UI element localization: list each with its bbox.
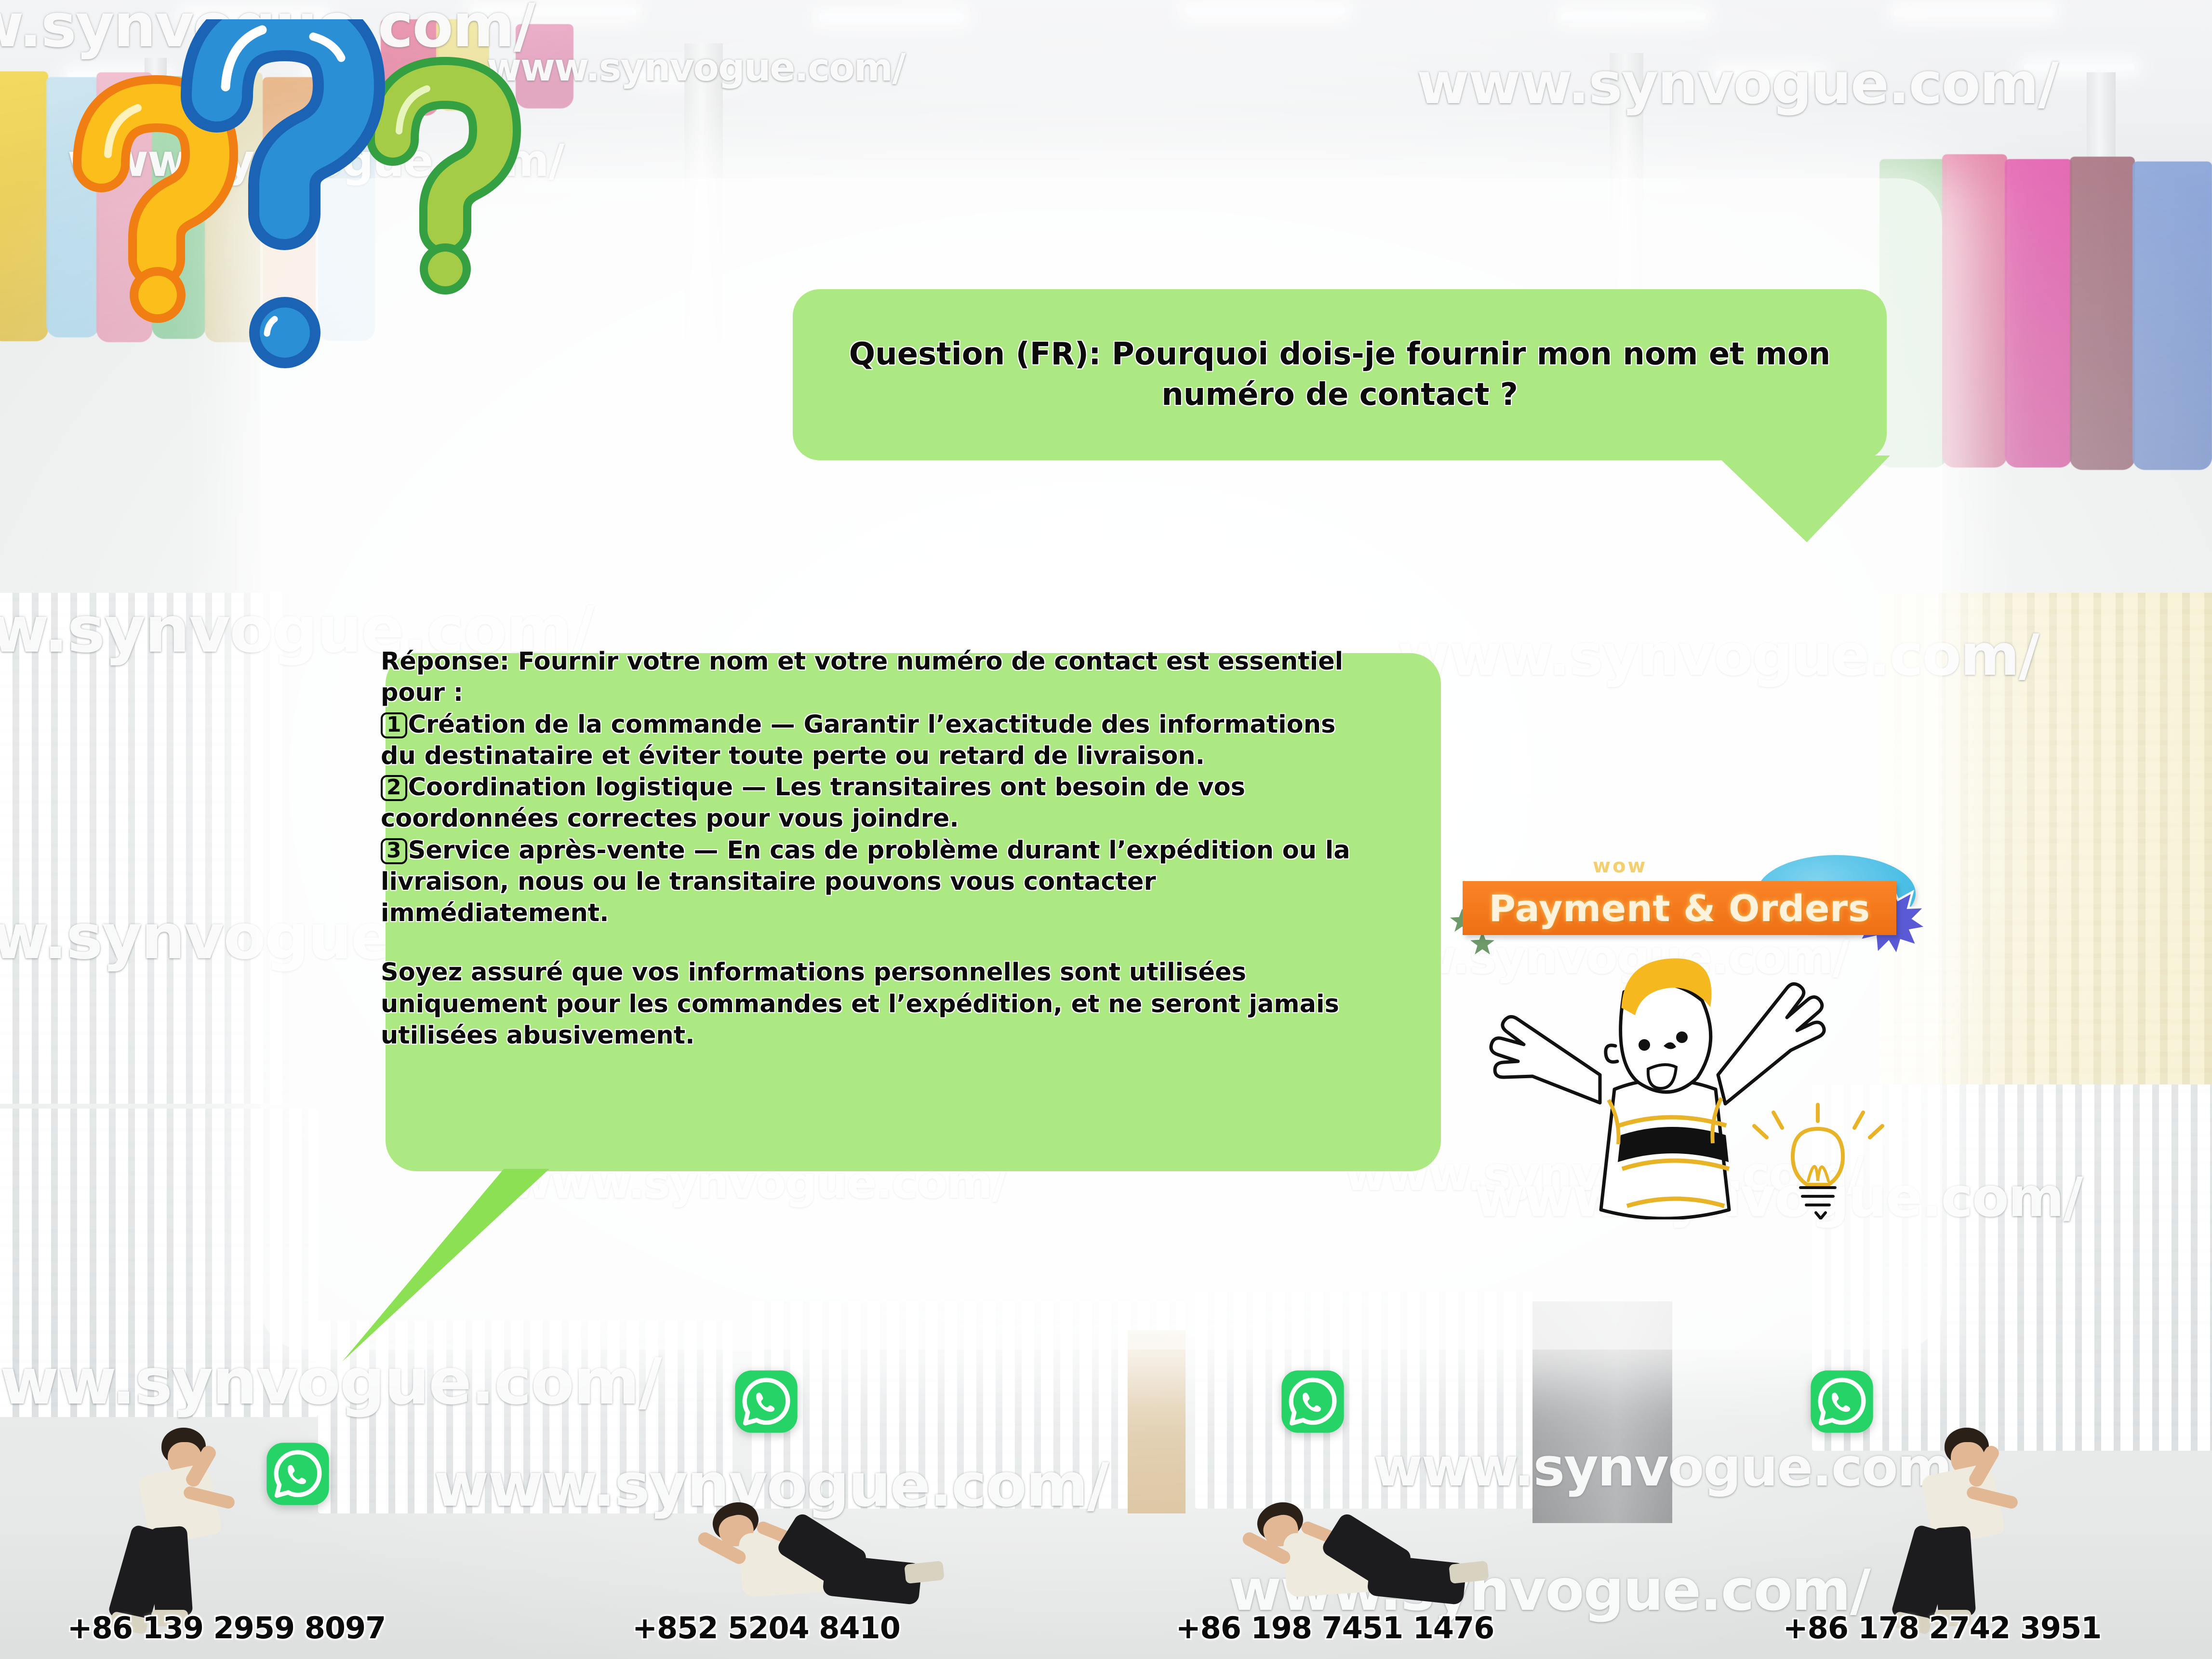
answer-item-number: 2 (381, 775, 407, 801)
contact-number: +86 198 7451 1476 (1079, 1610, 1590, 1646)
whatsapp-icon[interactable] (1281, 1370, 1345, 1433)
answer-item-text: Service après-vente — En cas de problème… (381, 836, 1350, 928)
contact-number: +86 178 2742 3951 (1687, 1610, 2198, 1646)
answer-item-text: Création de la commande — Garantir l’exa… (381, 710, 1335, 770)
contact-number: +852 5204 8410 (511, 1610, 1022, 1646)
question-mark-green-icon (393, 83, 495, 294)
answer-item: 3Service après-vente — En cas de problèm… (381, 835, 1369, 929)
spacer (381, 929, 1369, 957)
whatsapp-icon[interactable] (734, 1370, 798, 1433)
answer-item-number: 1 (381, 712, 407, 738)
lightbulb-icon (1754, 1105, 1882, 1218)
question-text: Question (FR): Pourquoi dois-je fournir … (836, 334, 1843, 415)
answer-closing: Soyez assuré que vos informations person… (381, 957, 1369, 1051)
answer-intro: Réponse: Fournir votre nom et votre numé… (381, 646, 1369, 709)
whatsapp-icon[interactable] (266, 1442, 330, 1506)
contact-item[interactable]: +86 178 2742 3951 (1687, 1360, 2198, 1659)
contact-item[interactable]: +86 198 7451 1476 (1079, 1360, 1590, 1659)
answer-item-number: 3 (381, 838, 407, 864)
person-photo (111, 1428, 255, 1635)
answer-item: 1Création de la commande — Garantir l’ex… (381, 709, 1369, 772)
answer-item-text: Coordination logistique — Les transitair… (381, 773, 1245, 833)
question-mark-blue-icon (217, 25, 349, 368)
contact-strip: +86 139 2959 8097 +852 5204 8410 (0, 1360, 2212, 1659)
contact-number: +86 139 2959 8097 (0, 1610, 482, 1646)
answer-text: Réponse: Fournir votre nom et votre numé… (381, 646, 1369, 1051)
answer-item: 2Coordination logistique — Les transitai… (381, 772, 1369, 835)
badge-bar: Payment & Orders (1463, 881, 1896, 935)
person-photo (1894, 1428, 2039, 1635)
whatsapp-icon[interactable] (1810, 1370, 1874, 1433)
cheering-boy-illustration (1455, 930, 1889, 1219)
badge-wow-label: wow (1593, 855, 1647, 877)
question-mark-yellow-icon (101, 104, 210, 323)
contact-item[interactable]: +86 139 2959 8097 (0, 1360, 482, 1659)
question-speech-bubble: Question (FR): Pourquoi dois-je fournir … (793, 289, 1887, 460)
answer-speech-bubble: Réponse: Fournir votre nom et votre numé… (386, 653, 1441, 1171)
badge-title: Payment & Orders (1489, 887, 1870, 930)
question-mark-cluster (72, 19, 573, 453)
contact-item[interactable]: +852 5204 8410 (511, 1360, 1022, 1659)
watermark-text: www.synvogue.com/ (1417, 50, 2058, 117)
